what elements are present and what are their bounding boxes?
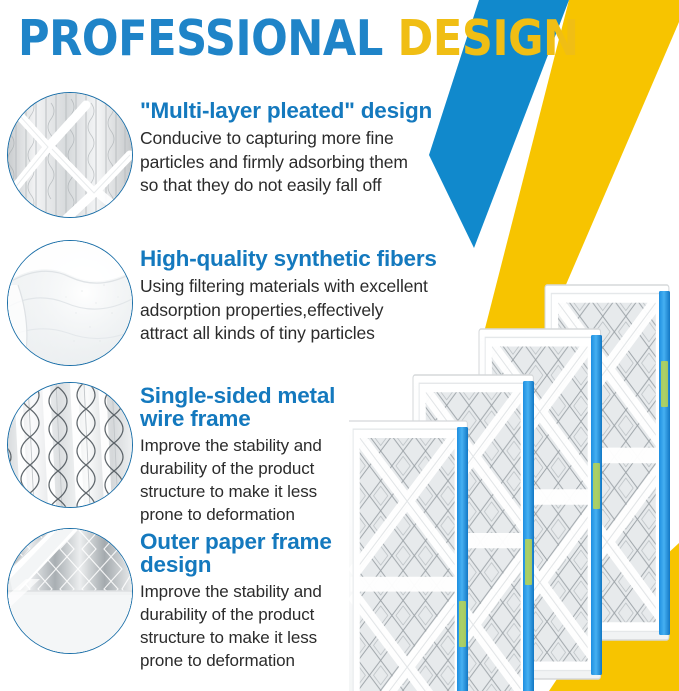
thumbnail-wrap [0,236,140,366]
filter-back-label-strip [659,291,670,635]
feature-heading: "Multi-layer pleated" design [140,98,514,123]
body-line: so that they do not easily fall off [140,174,514,198]
four-pleated-air-filters-staggered [349,271,679,691]
filter-second-label-strip [523,381,534,691]
body-line: Conducive to capturing more fine [140,127,514,151]
feature-text: "Multi-layer pleated" design Conducive t… [140,88,520,198]
pleated-filter-closeup-photo [7,92,133,218]
feature-item-multi-layer-pleated: "Multi-layer pleated" design Conducive t… [0,88,520,236]
title-design: DESIGN [397,10,578,67]
filter-front-label-strip [457,427,468,691]
feature-body: Conducive to capturing more fine particl… [140,127,514,198]
paper-frame-corner-photo [7,528,133,654]
thumbnail-wrap [0,378,140,508]
infographic-page: PROFESSIONAL DESIGN [0,0,679,691]
metal-wire-mesh-photo [7,382,133,508]
body-line: particles and firmly adsorbing them [140,151,514,175]
thumbnail-wrap [0,524,140,654]
thumbnail-wrap [0,88,140,218]
feature-heading: High-quality synthetic fibers [140,246,514,271]
title-professional: PROFESSIONAL [18,10,383,67]
heading-line: Single-sided metal [140,383,335,408]
filter-third-label-strip [591,335,602,675]
filter-front [349,421,467,691]
synthetic-fiber-fabric-photo [7,240,133,366]
page-title: PROFESSIONAL DESIGN [18,8,578,70]
heading-line: Outer paper frame [140,529,332,554]
